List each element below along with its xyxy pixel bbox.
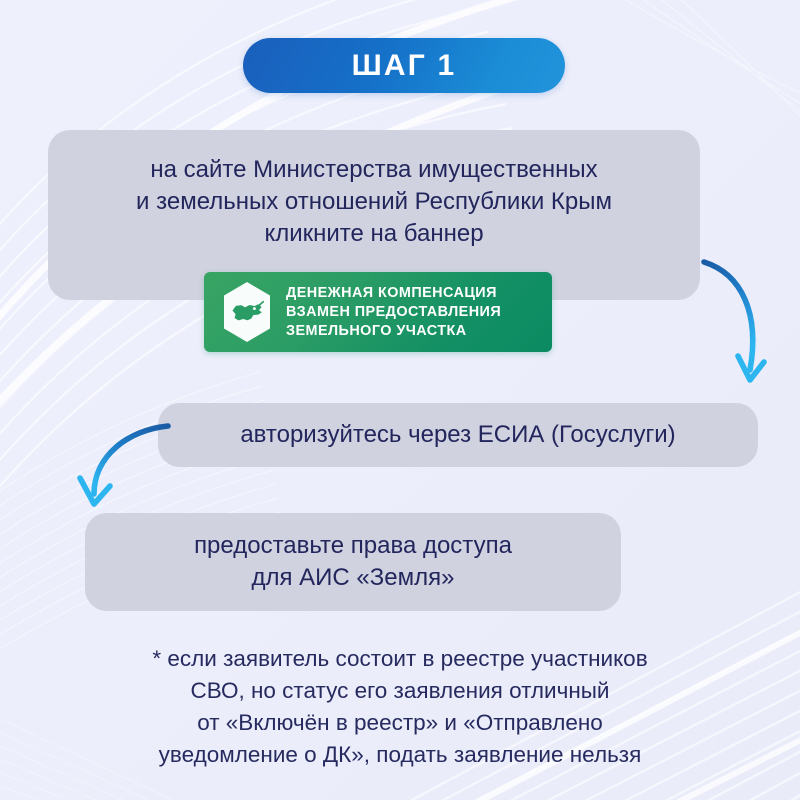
step-card-esia: авторизуйтесь через ЕСИА (Госуслуги) — [158, 403, 758, 467]
step-badge-label: ШАГ 1 — [352, 49, 457, 83]
crimea-hexagon-icon — [218, 280, 276, 344]
step-badge: ШАГ 1 — [243, 38, 565, 93]
arrow-right-icon — [694, 252, 794, 404]
step-card-esia-text: авторизуйтесь через ЕСИА (Госуслуги) — [240, 419, 675, 451]
compensation-banner-text: ДЕНЕЖНАЯ КОМПЕНСАЦИЯ ВЗАМЕН ПРЕДОСТАВЛЕН… — [286, 285, 501, 339]
step-card-access: предоставьте права доступа для АИС «Земл… — [85, 513, 621, 611]
banner-line-2: ВЗАМЕН ПРЕДОСТАВЛЕНИЯ — [286, 304, 501, 320]
step-card-site-text: на сайте Министерства имущественных и зе… — [136, 154, 612, 250]
compensation-banner[interactable]: ДЕНЕЖНАЯ КОМПЕНСАЦИЯ ВЗАМЕН ПРЕДОСТАВЛЕН… — [204, 272, 552, 352]
footnote-text: * если заявитель состоит в реестре участ… — [60, 643, 740, 771]
infographic-stage: ШАГ 1 на сайте Министерства имущественны… — [0, 0, 800, 800]
banner-line-1: ДЕНЕЖНАЯ КОМПЕНСАЦИЯ — [286, 285, 501, 301]
banner-line-3: ЗЕМЕЛЬНОГО УЧАСТКА — [286, 323, 501, 339]
step-card-access-text: предоставьте права доступа для АИС «Земл… — [194, 530, 512, 594]
